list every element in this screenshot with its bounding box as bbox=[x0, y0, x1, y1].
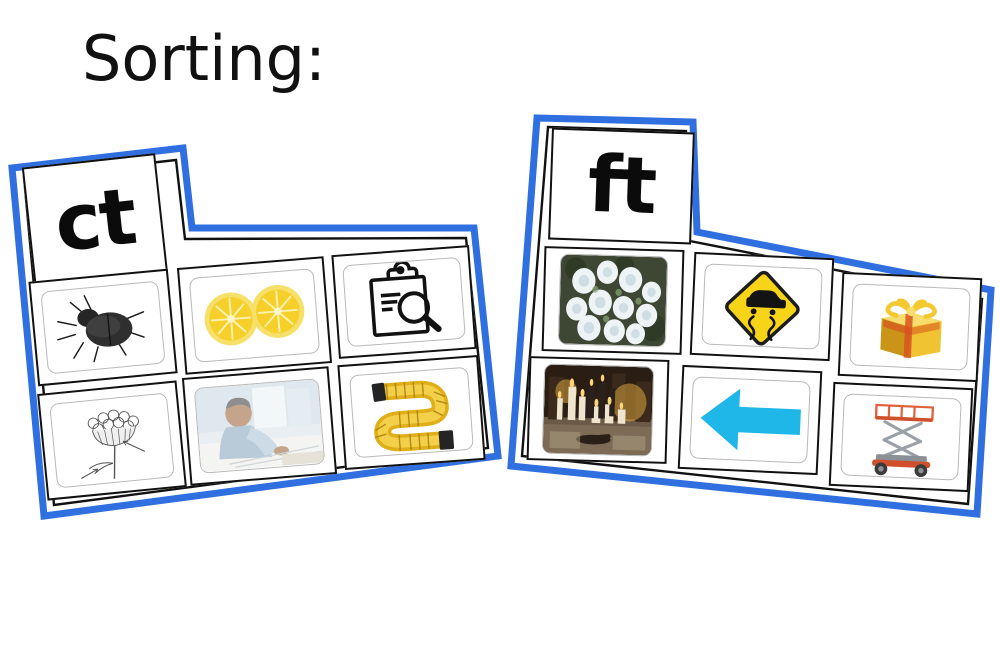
architect-card-inner bbox=[194, 379, 325, 474]
inspect-card-inner bbox=[343, 257, 466, 347]
nectar-card-inner bbox=[49, 393, 176, 489]
left-arrow-icon bbox=[690, 377, 810, 462]
picture-card-architect[interactable] bbox=[182, 366, 337, 485]
lemon-card-inner bbox=[189, 268, 320, 362]
yellow-flexible-duct-icon bbox=[350, 368, 473, 457]
picture-card-slippery-sign[interactable] bbox=[690, 252, 835, 361]
picture-card-insect[interactable] bbox=[28, 269, 177, 387]
gift-card-inner bbox=[849, 283, 972, 370]
flower-line-drawing-icon bbox=[50, 394, 174, 487]
worksheet-canvas: Sorting: ct bbox=[0, 0, 1000, 667]
sorting-group-ct: ct bbox=[0, 0, 520, 560]
picture-card-drift-flowers[interactable] bbox=[542, 246, 685, 355]
picture-card-lemon[interactable] bbox=[177, 256, 332, 374]
scissor-lift-icon bbox=[841, 394, 961, 479]
candles-scene-photo-icon bbox=[542, 364, 653, 455]
picture-card-craft-candles[interactable] bbox=[527, 356, 670, 464]
header-card-ft[interactable]: ft bbox=[548, 128, 695, 245]
man-at-desk-photo-icon bbox=[195, 380, 324, 473]
header-card-ft-letters: ft bbox=[587, 146, 657, 226]
slippery-road-sign-icon bbox=[702, 264, 822, 348]
craft-candles-card-inner bbox=[541, 363, 654, 456]
picture-card-gift[interactable] bbox=[838, 272, 983, 382]
picture-card-nectar[interactable] bbox=[37, 380, 187, 500]
duct-card-inner bbox=[349, 367, 475, 458]
picture-card-left-arrow[interactable] bbox=[678, 365, 823, 475]
header-card-ct-letters: ct bbox=[51, 178, 138, 264]
picture-card-lift[interactable] bbox=[829, 382, 974, 492]
picture-card-inspect[interactable] bbox=[331, 245, 476, 359]
sorting-group-ft: ft bbox=[495, 0, 1000, 560]
gold-gift-box-icon bbox=[850, 284, 970, 369]
lemon-halves-icon bbox=[190, 269, 319, 361]
beetle-insect-icon bbox=[41, 282, 165, 373]
clipboard-magnifier-icon bbox=[344, 258, 465, 346]
left-arrow-card-inner bbox=[689, 376, 812, 463]
picture-card-duct[interactable] bbox=[337, 355, 485, 470]
white-flowers-photo-icon bbox=[559, 255, 668, 347]
insect-card-inner bbox=[40, 281, 166, 375]
header-card-ct[interactable]: ct bbox=[22, 153, 168, 289]
lift-card-inner bbox=[840, 393, 963, 480]
slippery-sign-card-inner bbox=[701, 263, 824, 349]
drift-flowers-card-inner bbox=[558, 254, 669, 348]
